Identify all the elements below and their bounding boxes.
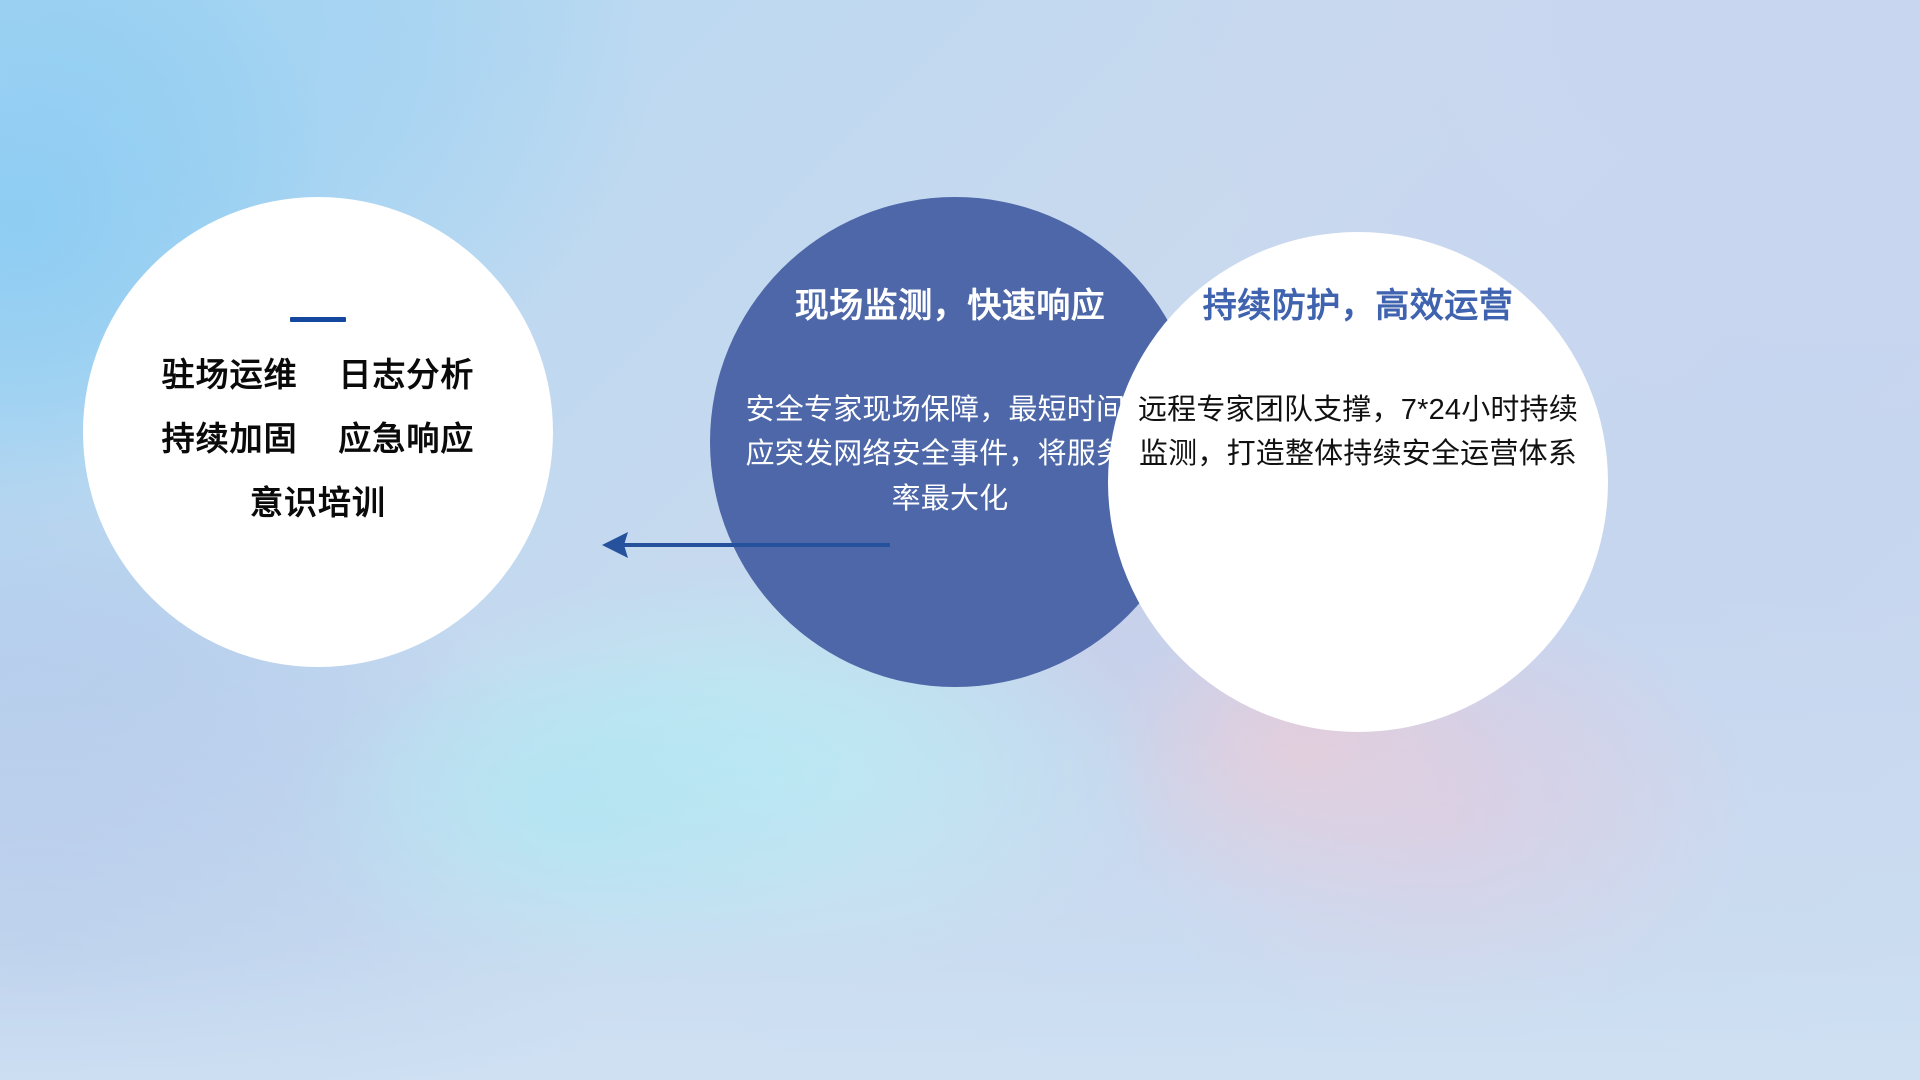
capability-line-1: 驻场运维 日志分析	[162, 358, 475, 391]
middle-circle-body: 安全专家现场保障，最短时间响应突发网络安全事件，将服务效率最大化	[730, 388, 1170, 520]
left-capability-circle[interactable]: 驻场运维 日志分析 持续加固 应急响应 意识培训	[83, 197, 553, 667]
right-circle-title: 持续防护，高效运营	[1128, 288, 1588, 325]
right-circle-text-block: 持续防护，高效运营 远程专家团队支撑，7*24小时持续监测，打造整体持续安全运营…	[1128, 288, 1588, 477]
slide-canvas: 驻场运维 日志分析 持续加固 应急响应 意识培训 现场监测，快速响应 安全专家现…	[0, 0, 1920, 1080]
flow-arrow-left-icon	[600, 515, 890, 575]
capability-line-2: 持续加固 应急响应	[162, 422, 475, 455]
middle-circle-text-block: 现场监测，快速响应 安全专家现场保障，最短时间响应突发网络安全事件，将服务效率最…	[730, 288, 1170, 521]
middle-circle-title: 现场监测，快速响应	[730, 288, 1170, 325]
divider-dash-icon	[290, 317, 346, 322]
capability-line-3: 意识培训	[250, 486, 386, 519]
right-circle-body: 远程专家团队支撑，7*24小时持续监测，打造整体持续安全运营体系	[1128, 388, 1588, 476]
